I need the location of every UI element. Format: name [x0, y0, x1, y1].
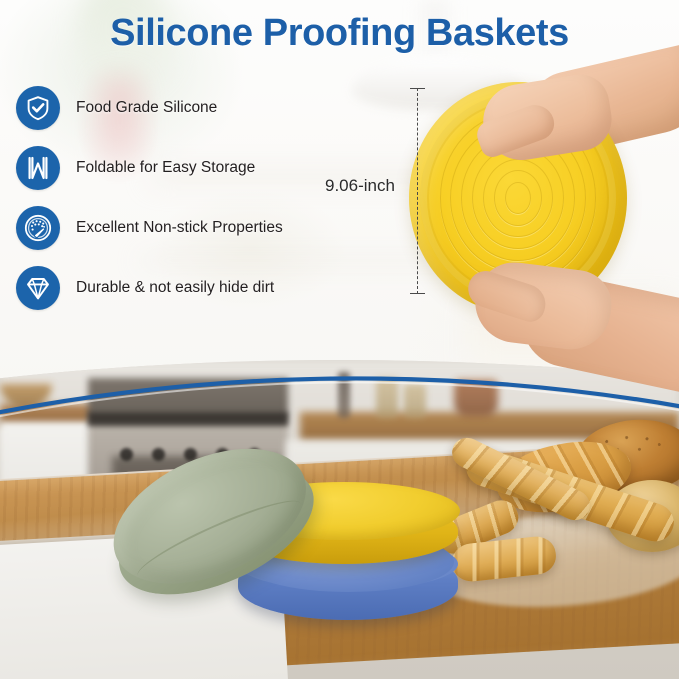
feature-label: Foldable for Easy Storage	[76, 159, 255, 177]
foldable-accordion-icon	[16, 146, 60, 190]
dimension-cap-bottom	[410, 293, 425, 294]
dimension-dashed-line	[417, 88, 418, 294]
stacked-baskets-group	[120, 440, 480, 650]
blue-arc-divider	[0, 352, 679, 418]
diamond-icon	[16, 266, 60, 310]
page-title: Silicone Proofing Baskets	[0, 12, 679, 55]
dimension-cap-top	[410, 88, 425, 89]
feature-item-non-stick: Excellent Non-stick Properties	[16, 198, 346, 258]
hero-product-photo	[405, 52, 679, 352]
feature-label: Excellent Non-stick Properties	[76, 219, 283, 237]
basket-ridge	[505, 182, 531, 214]
shield-check-icon	[16, 86, 60, 130]
bread-arrangement	[448, 418, 679, 648]
feature-item-foldable: Foldable for Easy Storage	[16, 138, 346, 198]
feature-item-durable: Durable & not easily hide dirt	[16, 258, 346, 318]
product-infographic: Silicone Proofing Baskets Food Grade Sil…	[0, 0, 679, 679]
green-basket	[90, 417, 351, 661]
feature-label: Food Grade Silicone	[76, 99, 217, 117]
non-stick-pan-icon	[16, 206, 60, 250]
feature-list: Food Grade Silicone Foldable for Easy St…	[16, 78, 346, 318]
dimension-label: 9.06-inch	[325, 176, 395, 196]
feature-item-food-grade: Food Grade Silicone	[16, 78, 346, 138]
feature-label: Durable & not easily hide dirt	[76, 279, 274, 297]
